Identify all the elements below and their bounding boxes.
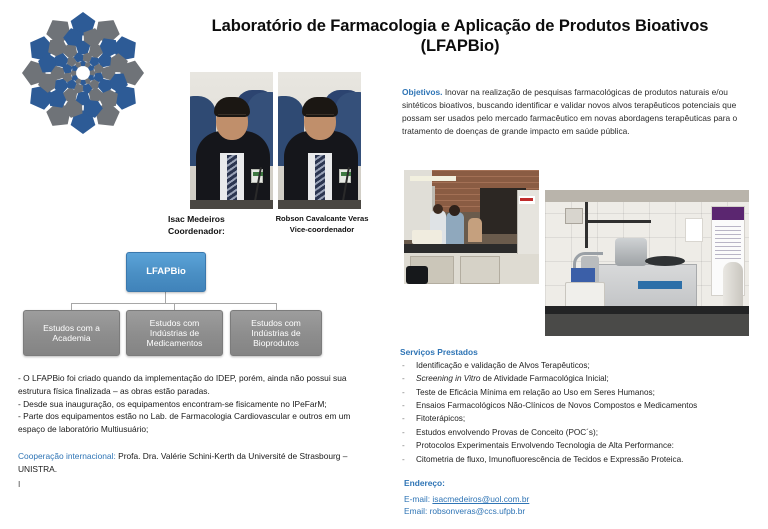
services-list: -Identificação e validação de Alvos Tera… [400, 359, 756, 466]
bullet-dash: - [402, 386, 405, 399]
service-item: -Teste de Eficácia Mínima em relação ao … [400, 386, 756, 399]
service-text: de Atividade Farmacológica Inicial; [480, 374, 608, 383]
service-item: -Identificação e validação de Alvos Tera… [400, 359, 756, 372]
org-connector-child-0 [71, 303, 72, 310]
service-item: -Fitoterápicos; [400, 412, 756, 425]
vice-coordinator-role: Vice-coordenador [266, 225, 378, 236]
bullet-dash: - [402, 453, 405, 466]
service-italic: Screening in Vitro [416, 374, 480, 383]
cooperation-label: Cooperação internacional: [18, 451, 116, 461]
service-text: Identificação e validação de Alvos Terap… [416, 361, 590, 370]
objectives-text: Inovar na realização de pesquisas farmac… [402, 87, 737, 136]
stray-character: I [18, 478, 368, 491]
service-text: Fitoterápicos; [416, 414, 465, 423]
lab-photos [404, 170, 749, 336]
note-item: - O LFAPBio foi criado quando da impleme… [18, 372, 368, 398]
bullet-dash: - [402, 372, 405, 385]
address-heading: Endereço: [404, 478, 744, 488]
org-node-root: LFAPBio [126, 252, 206, 292]
caption-vice-coordinator: Robson Cavalcante Veras Vice-coordenador [266, 214, 378, 236]
objectives-block: Objetivos. Inovar na realização de pesqu… [402, 86, 754, 138]
bullet-dash: - [402, 439, 405, 452]
email-row: E-mail: isacmedeiros@uol.com.br [404, 493, 744, 505]
org-node-bioprodutos: Estudos com Indústrias de Bioprodutos [230, 310, 322, 356]
email-label: Email: [404, 506, 430, 516]
bullet-dash: - [402, 412, 405, 425]
coordinator-name: Isac Medeiros [168, 213, 264, 225]
objectives-label: Objetivos. [402, 87, 443, 97]
service-item: -Screening in Vitro de Atividade Farmaco… [400, 372, 756, 385]
org-connector-root [165, 292, 166, 303]
service-text: Teste de Eficácia Mínima em relação ao U… [416, 388, 655, 397]
coordinator-photos [190, 72, 361, 209]
services-heading: Serviços Prestados [400, 347, 756, 357]
email-link-isac[interactable]: isacmedeiros@uol.com.br [432, 494, 529, 504]
lab-equipment-freeze-dryer-photo [545, 190, 749, 336]
org-connector-child-2 [276, 303, 277, 310]
org-chart: LFAPBio Estudos com a Academia Estudos c… [18, 252, 338, 362]
bullet-dash: - [402, 359, 405, 372]
cooperation-block: Cooperação internacional: Profa. Dra. Va… [18, 450, 368, 490]
vice-coordinator-name: Robson Cavalcante Veras [266, 214, 378, 225]
lab-bench-researchers-photo [404, 170, 539, 284]
service-text: Estudos envolvendo Provas de Conceito (P… [416, 428, 598, 437]
bullet-dash: - [402, 399, 405, 412]
service-item: -Ensaios Farmacológicos Não-Clínicos de … [400, 399, 756, 412]
service-text: Citometria de fluxo, Imunofluorescência … [416, 455, 683, 464]
page-title-line2: (LFAPBio) [160, 36, 760, 56]
org-node-medicamentos: Estudos com Indústrias de Medicamentos [126, 310, 223, 356]
service-text: Ensaios Farmacológicos Não-Clínicos de N… [416, 401, 697, 410]
org-node-academia: Estudos com a Academia [23, 310, 120, 356]
portrait-robson-veras [278, 72, 361, 209]
note-item: - Desde sua inauguração, os equipamentos… [18, 398, 368, 411]
services-block: Serviços Prestados -Identificação e vali… [400, 347, 756, 466]
coordinator-role: Coordenador: [168, 225, 264, 237]
address-block: Endereço: E-mail: isacmedeiros@uol.com.b… [404, 478, 744, 517]
portrait-isac-medeiros [190, 72, 273, 209]
bullet-dash: - [402, 426, 405, 439]
page-title-line1: Laboratório de Farmacologia e Aplicação … [160, 16, 760, 36]
caption-coordinator: Isac Medeiros Coordenador: [168, 213, 264, 237]
email-row: Email: robsonveras@ccs.ufpb.br [404, 505, 744, 517]
poster-canvas: Laboratório de Farmacologia e Aplicação … [0, 0, 768, 529]
email-label: E-mail: [404, 494, 432, 504]
service-item: - Estudos envolvendo Provas de Conceito … [400, 426, 756, 439]
org-connector-child-1 [174, 303, 175, 310]
page-title: Laboratório de Farmacologia e Aplicação … [160, 16, 760, 56]
service-text: Protocolos Experimentais Envolvendo Tecn… [416, 441, 674, 450]
ufpb-mandala-logo-icon [22, 12, 144, 134]
service-item: -Citometria de fluxo, Imunofluorescência… [400, 453, 756, 466]
email-link-robson[interactable]: robsonveras@ccs.ufpb.br [430, 506, 526, 516]
service-item: - Protocolos Experimentais Envolvendo Te… [400, 439, 756, 452]
notes-block: - O LFAPBio foi criado quando da impleme… [18, 372, 368, 436]
note-item: - Parte dos equipamentos estão no Lab. d… [18, 410, 368, 436]
